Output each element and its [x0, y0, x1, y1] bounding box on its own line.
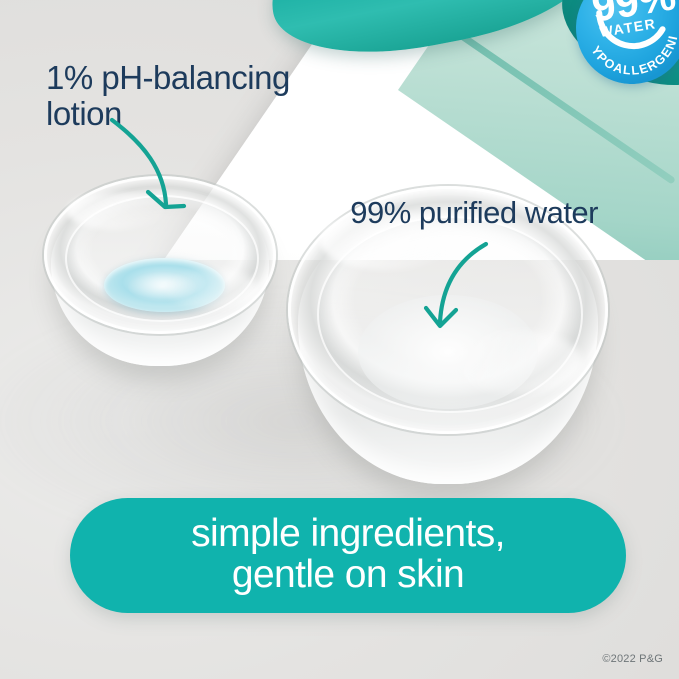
water-callout-label: 99% purified water	[336, 196, 598, 230]
water-callout-arrow	[404, 240, 504, 345]
tagline-banner: simple ingredients, gentle on skin	[70, 498, 626, 613]
infographic-image: 99% WATER HYPOALLERGENIC 1% pH-balancing…	[0, 0, 679, 679]
lotion-callout-arrow	[108, 118, 218, 233]
copyright-text: ©2022 P&G	[602, 653, 663, 665]
hypoallergenic-water-badge: 99% WATER HYPOALLERGENIC	[568, 0, 679, 92]
tagline-text: simple ingredients, gentle on skin	[191, 514, 505, 597]
left-bowl-glare-secondary	[165, 268, 258, 309]
tagline-line-1: simple ingredients,	[191, 514, 505, 555]
tagline-line-2: gentle on skin	[191, 555, 505, 596]
